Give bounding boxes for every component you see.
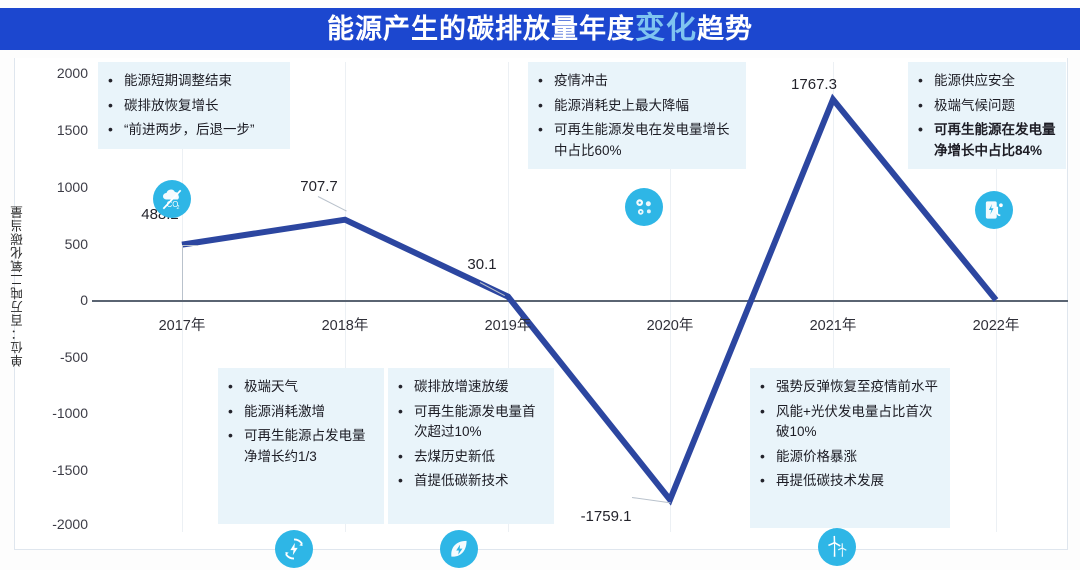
y-tick-label: 500 — [2, 236, 88, 252]
virus-icon — [625, 188, 663, 226]
leaf-energy-icon — [440, 530, 478, 568]
title-main-text: 能源产生的碳排放量年度 — [327, 14, 635, 44]
annotation-item: 可再生能源占发电量净增长约1/3 — [226, 426, 374, 467]
y-tick-label: -1500 — [2, 462, 88, 478]
annotation-list: 极端天气 能源消耗激增 可再生能源占发电量净增长约1/3 — [226, 377, 374, 467]
annotation-item: “前进两步，后退一步” — [106, 120, 280, 141]
x-tick-label-2021: 2021年 — [773, 314, 893, 335]
leader-line — [182, 245, 198, 246]
annotation-list: 疫情冲击 能源消耗史上最大降幅 可再生能源发电在发电量增长中占比60% — [536, 71, 736, 161]
value-label-2020: -1759.1 — [581, 508, 632, 525]
annotation-list: 能源供应安全 极端气候问题 可再生能源在发电量净增长中占比84% — [916, 71, 1056, 161]
annotation-item: 可再生能源发电量首次超过10% — [396, 402, 544, 443]
annotation-list: 强势反弹恢复至疫情前水平 风能+光伏发电量占比首次破10% 能源价格暴涨 再提低… — [758, 377, 940, 492]
annotation-item: 能源供应安全 — [916, 71, 1056, 92]
annotation-item: 能源消耗史上最大降幅 — [536, 96, 736, 117]
co2-cloud-crossed-icon: CO 2 — [153, 180, 191, 218]
y-tick-label: 1000 — [2, 179, 88, 195]
zero-axis-line — [92, 300, 1068, 302]
annotation-item: 去煤历史新低 — [396, 447, 544, 468]
annotation-item: 首提低碳新技术 — [396, 471, 544, 492]
x-tick-label-2020: 2020年 — [610, 314, 730, 335]
renewable-energy-icon — [275, 530, 313, 568]
title-tail-text: 趋势 — [697, 14, 753, 44]
y-tick-label: 1500 — [2, 122, 88, 138]
annotation-item: 再提低碳技术发展 — [758, 471, 940, 492]
annotation-item: 可再生能源在发电量净增长中占比84% — [916, 120, 1056, 161]
annotation-item: 碳排放恢复增长 — [106, 96, 280, 117]
ev-charger-icon — [975, 191, 1013, 229]
x-tick-label-2018: 2018年 — [285, 314, 405, 335]
chart-title-bar: 能源产生的碳排放量年度变化趋势 — [0, 8, 1080, 50]
annotation-item: 强势反弹恢复至疫情前水平 — [758, 377, 940, 398]
y-tick-label: -500 — [2, 349, 88, 365]
wind-turbine-icon — [818, 528, 856, 566]
annotation-list: 能源短期调整结束 碳排放恢复增长 “前进两步，后退一步” — [106, 71, 280, 141]
value-label-2018: 707.7 — [300, 178, 338, 195]
annotation-list: 碳排放增速放缓 可再生能源发电量首次超过10% 去煤历史新低 首提低碳新技术 — [396, 377, 544, 492]
annotation-box-2020: 疫情冲击 能源消耗史上最大降幅 可再生能源发电在发电量增长中占比60% — [528, 62, 746, 169]
annotation-item: 能源短期调整结束 — [106, 71, 280, 92]
annotation-box-2017: 能源短期调整结束 碳排放恢复增长 “前进两步，后退一步” — [98, 62, 290, 149]
annotation-box-2021: 强势反弹恢复至疫情前水平 风能+光伏发电量占比首次破10% 能源价格暴涨 再提低… — [750, 368, 950, 528]
annotation-item: 能源价格暴涨 — [758, 447, 940, 468]
y-tick-label: 2000 — [2, 65, 88, 81]
annotation-item: 能源消耗激增 — [226, 402, 374, 423]
x-tick-label-2022: 2022年 — [936, 314, 1056, 335]
title-highlight-text: 变化 — [635, 12, 697, 45]
x-tick-label-2019: 2019年 — [448, 314, 568, 335]
y-tick-label: -1000 — [2, 405, 88, 421]
value-label-2021: 1767.3 — [791, 76, 837, 93]
annotation-box-2019: 碳排放增速放缓 可再生能源发电量首次超过10% 去煤历史新低 首提低碳新技术 — [388, 368, 554, 524]
x-tick-label-2017: 2017年 — [122, 314, 242, 335]
annotation-item: 风能+光伏发电量占比首次破10% — [758, 402, 940, 443]
y-axis-ticks: 2000 1500 1000 500 0 -500 -1000 -1500 -2… — [0, 0, 88, 570]
annotation-item: 可再生能源发电在发电量增长中占比60% — [536, 120, 736, 161]
annotation-box-2018: 极端天气 能源消耗激增 可再生能源占发电量净增长约1/3 — [218, 368, 384, 524]
annotation-item: 疫情冲击 — [536, 71, 736, 92]
svg-text:2: 2 — [177, 205, 180, 211]
value-label-2019: 30.1 — [467, 256, 496, 273]
annotation-box-2022: 能源供应安全 极端气候问题 可再生能源在发电量净增长中占比84% — [908, 62, 1066, 169]
chart-page: 能源产生的碳排放量年度变化趋势 单位：百万吨二氧化碳当量 2000 1500 1… — [0, 0, 1080, 570]
annotation-item: 碳排放增速放缓 — [396, 377, 544, 398]
annotation-item: 极端气候问题 — [916, 96, 1056, 117]
leader-line — [182, 245, 183, 300]
page-title: 能源产生的碳排放量年度变化趋势 — [327, 14, 753, 44]
y-tick-label: 0 — [2, 292, 88, 308]
annotation-item: 极端天气 — [226, 377, 374, 398]
y-tick-label: -2000 — [2, 516, 88, 532]
